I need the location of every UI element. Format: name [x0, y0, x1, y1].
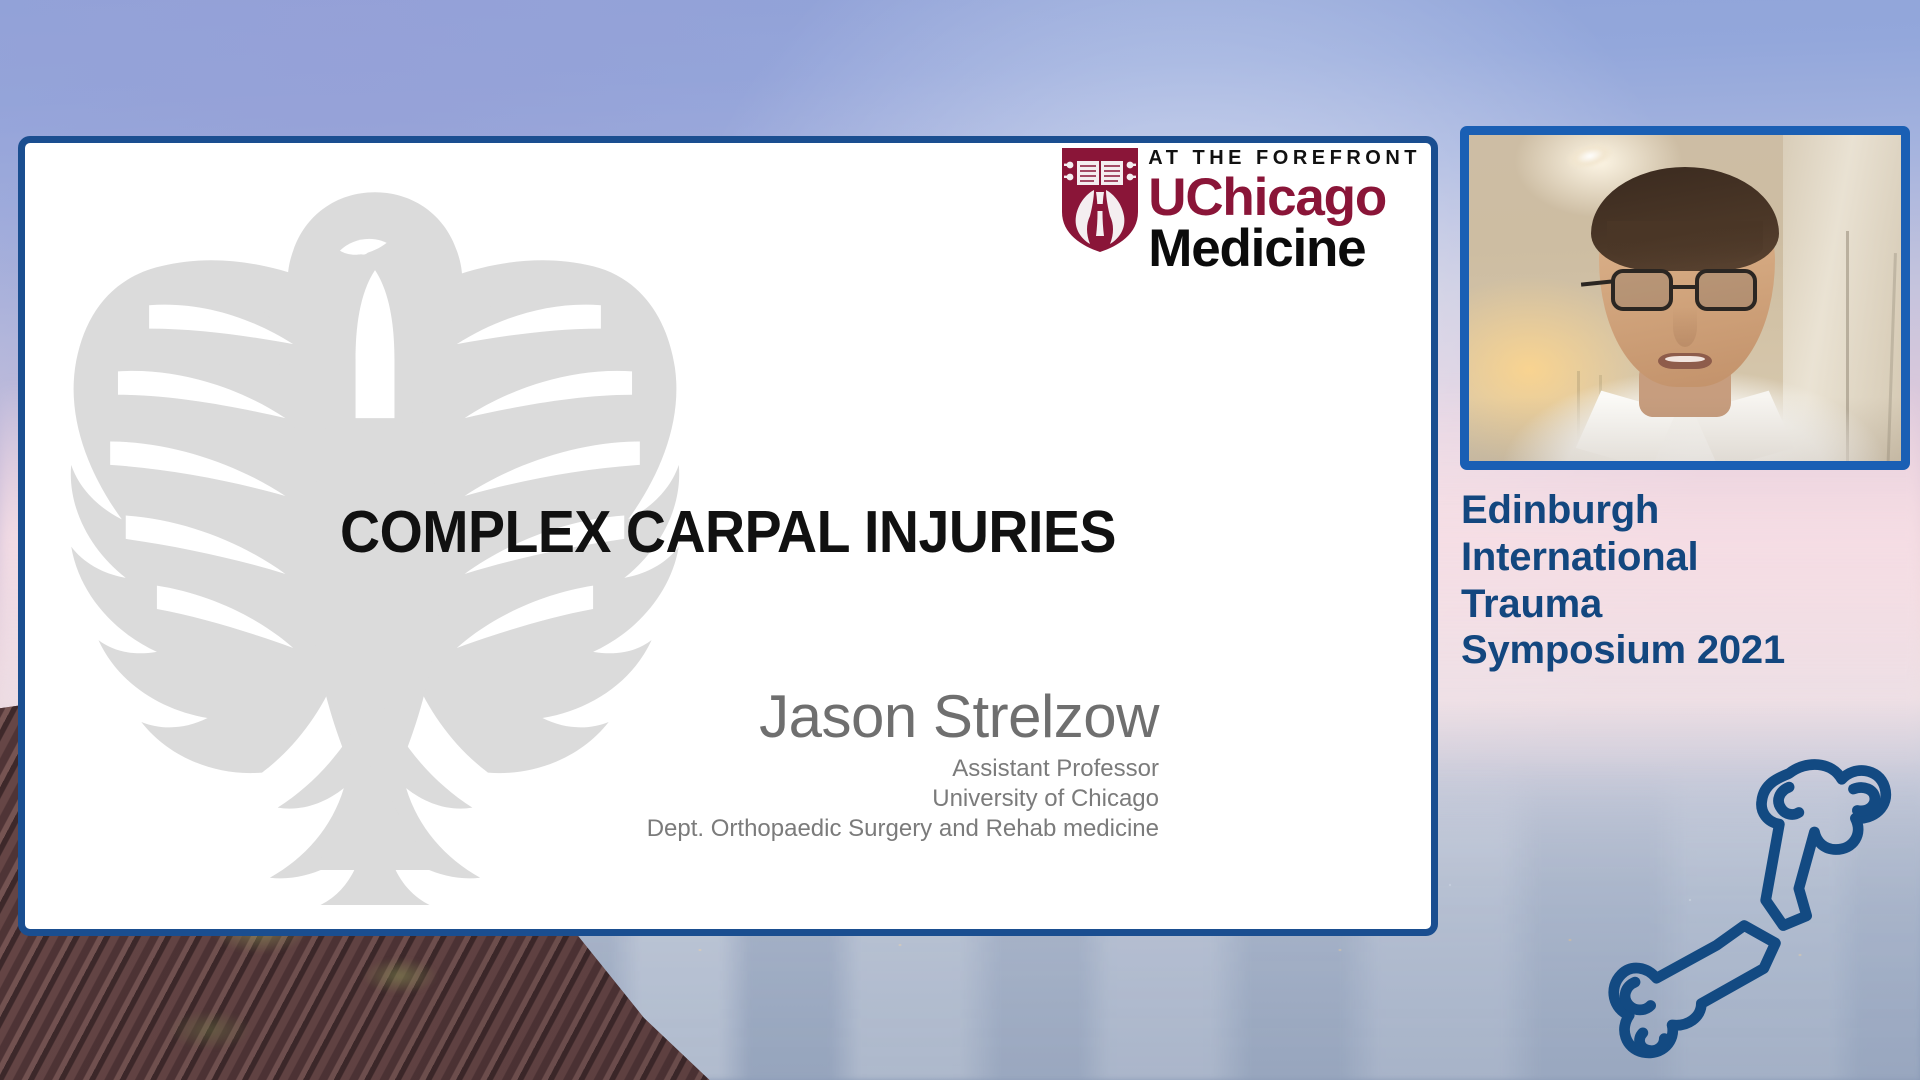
eyeglasses-bridge	[1672, 285, 1698, 289]
event-title-line: Trauma	[1461, 581, 1901, 628]
uchicago-medicine-logo: AT THE FOREFRONT UChicago Medicine	[1060, 140, 1421, 276]
presenter-block: Jason Strelzow Assistant Professor Unive…	[647, 685, 1159, 843]
presenter-affiliation-line: University of Chicago	[647, 784, 1159, 814]
video-feed	[1469, 135, 1901, 461]
eyeglasses-lens-left	[1611, 269, 1673, 311]
logo-brand-secondary: Medicine	[1148, 221, 1365, 276]
presenter-hair	[1591, 167, 1779, 271]
event-title: Edinburgh International Trauma Symposium…	[1461, 487, 1901, 674]
slide-panel[interactable]: AT THE FOREFRONT UChicago Medicine COMPL…	[18, 136, 1438, 936]
presenter-name: Jason Strelzow	[647, 685, 1159, 748]
presenter-affiliation: Assistant Professor University of Chicag…	[647, 754, 1159, 843]
presenter-affiliation-line: Dept. Orthopaedic Surgery and Rehab medi…	[647, 814, 1159, 844]
slide-title: COMPLEX CARPAL INJURIES	[67, 498, 1389, 566]
presenter-affiliation-line: Assistant Professor	[647, 754, 1159, 784]
logo-brand-primary: UChicago	[1148, 170, 1386, 225]
video-vignette	[1469, 397, 1901, 461]
event-title-line: International	[1461, 534, 1901, 581]
presentation-stage: AT THE FOREFRONT UChicago Medicine COMPL…	[0, 0, 1920, 1080]
presenter-nose	[1673, 307, 1697, 347]
presenter-mouth	[1658, 353, 1712, 369]
event-title-line: Symposium 2021	[1461, 627, 1901, 674]
event-title-line: Edinburgh	[1461, 487, 1901, 534]
fractured-bone-logo-icon	[1598, 752, 1910, 1064]
ceiling-light	[1565, 140, 1615, 172]
uchicago-phoenix-shield-icon	[1060, 146, 1140, 254]
logo-tagline: AT THE FOREFRONT	[1148, 148, 1421, 168]
presenter-video-tile[interactable]	[1460, 126, 1910, 470]
eyeglasses-lens-right	[1695, 269, 1757, 311]
